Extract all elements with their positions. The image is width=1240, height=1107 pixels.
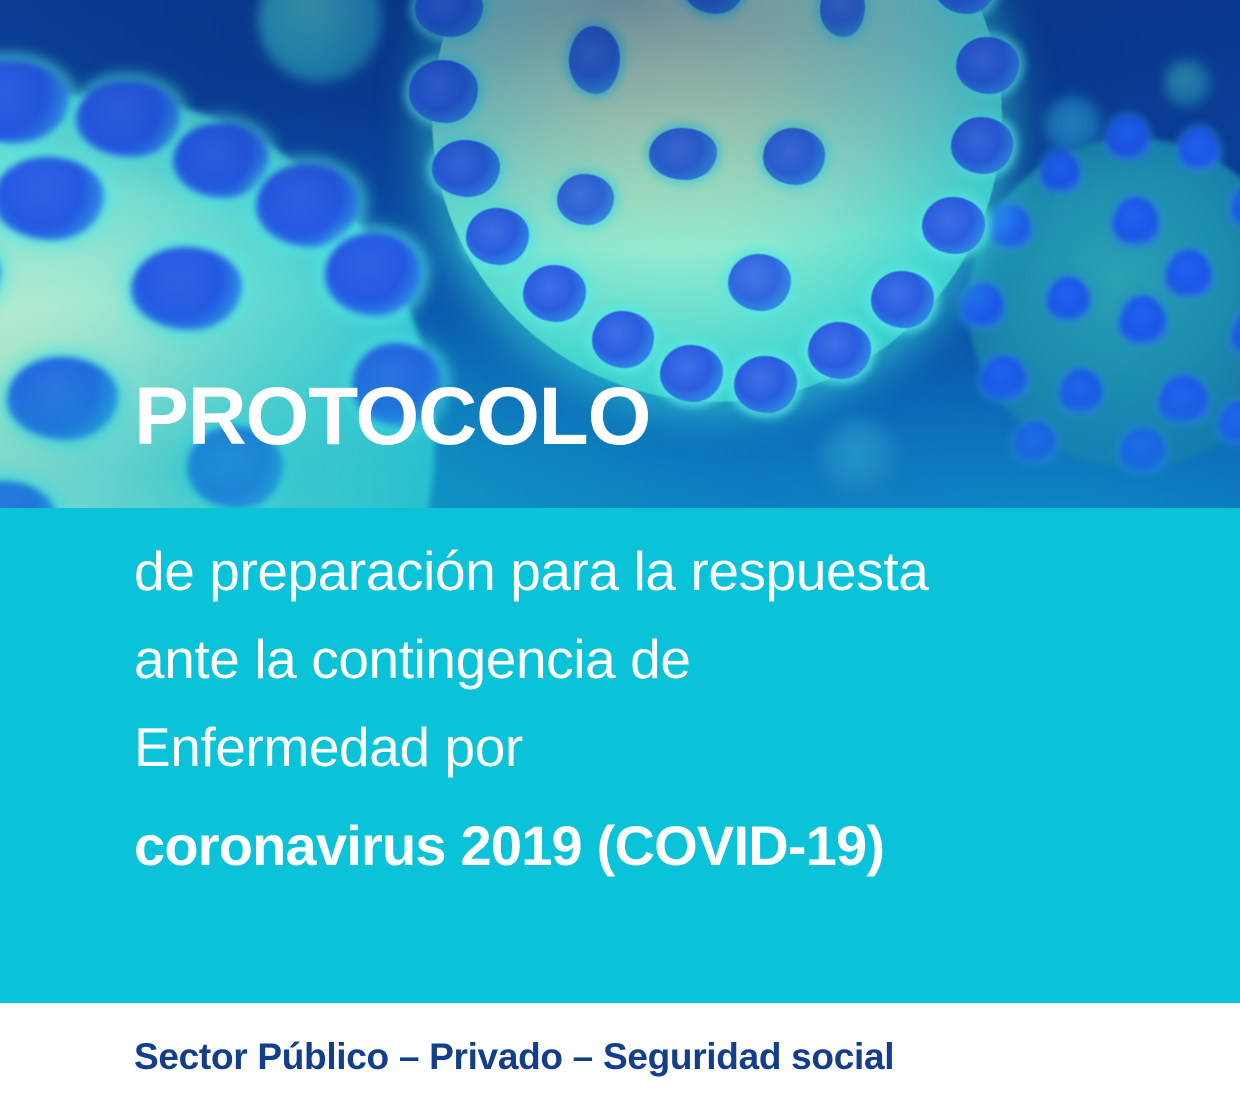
subtitle-line-3: Enfermedad por [134, 703, 1134, 791]
virion-main-icon [432, 0, 1002, 402]
virion-body [432, 0, 1002, 402]
page-title: PROTOCOLO [134, 376, 650, 458]
poster-cover: PROTOCOLO de preparación para la respues… [0, 0, 1240, 1107]
hero-coronavirus-image: PROTOCOLO [0, 0, 1240, 509]
footer-area: Sector Público – Privado – Seguridad soc… [0, 1003, 1240, 1107]
subtitle-line-1: de preparación para la respuesta [134, 527, 1134, 615]
background-virion-icon [1164, 60, 1210, 106]
background-virion-icon [820, 418, 900, 498]
footer-sectors-text: Sector Público – Privado – Seguridad soc… [134, 1037, 894, 1078]
background-virion-icon [258, 0, 382, 82]
subtitle-block: de preparación para la respuesta ante la… [134, 527, 1134, 876]
virion-right-icon [968, 138, 1240, 468]
subtitle-line-2: ante la contingencia de [134, 615, 1134, 703]
subtitle-emphasis: coronavirus 2019 (COVID-19) [134, 817, 1134, 876]
